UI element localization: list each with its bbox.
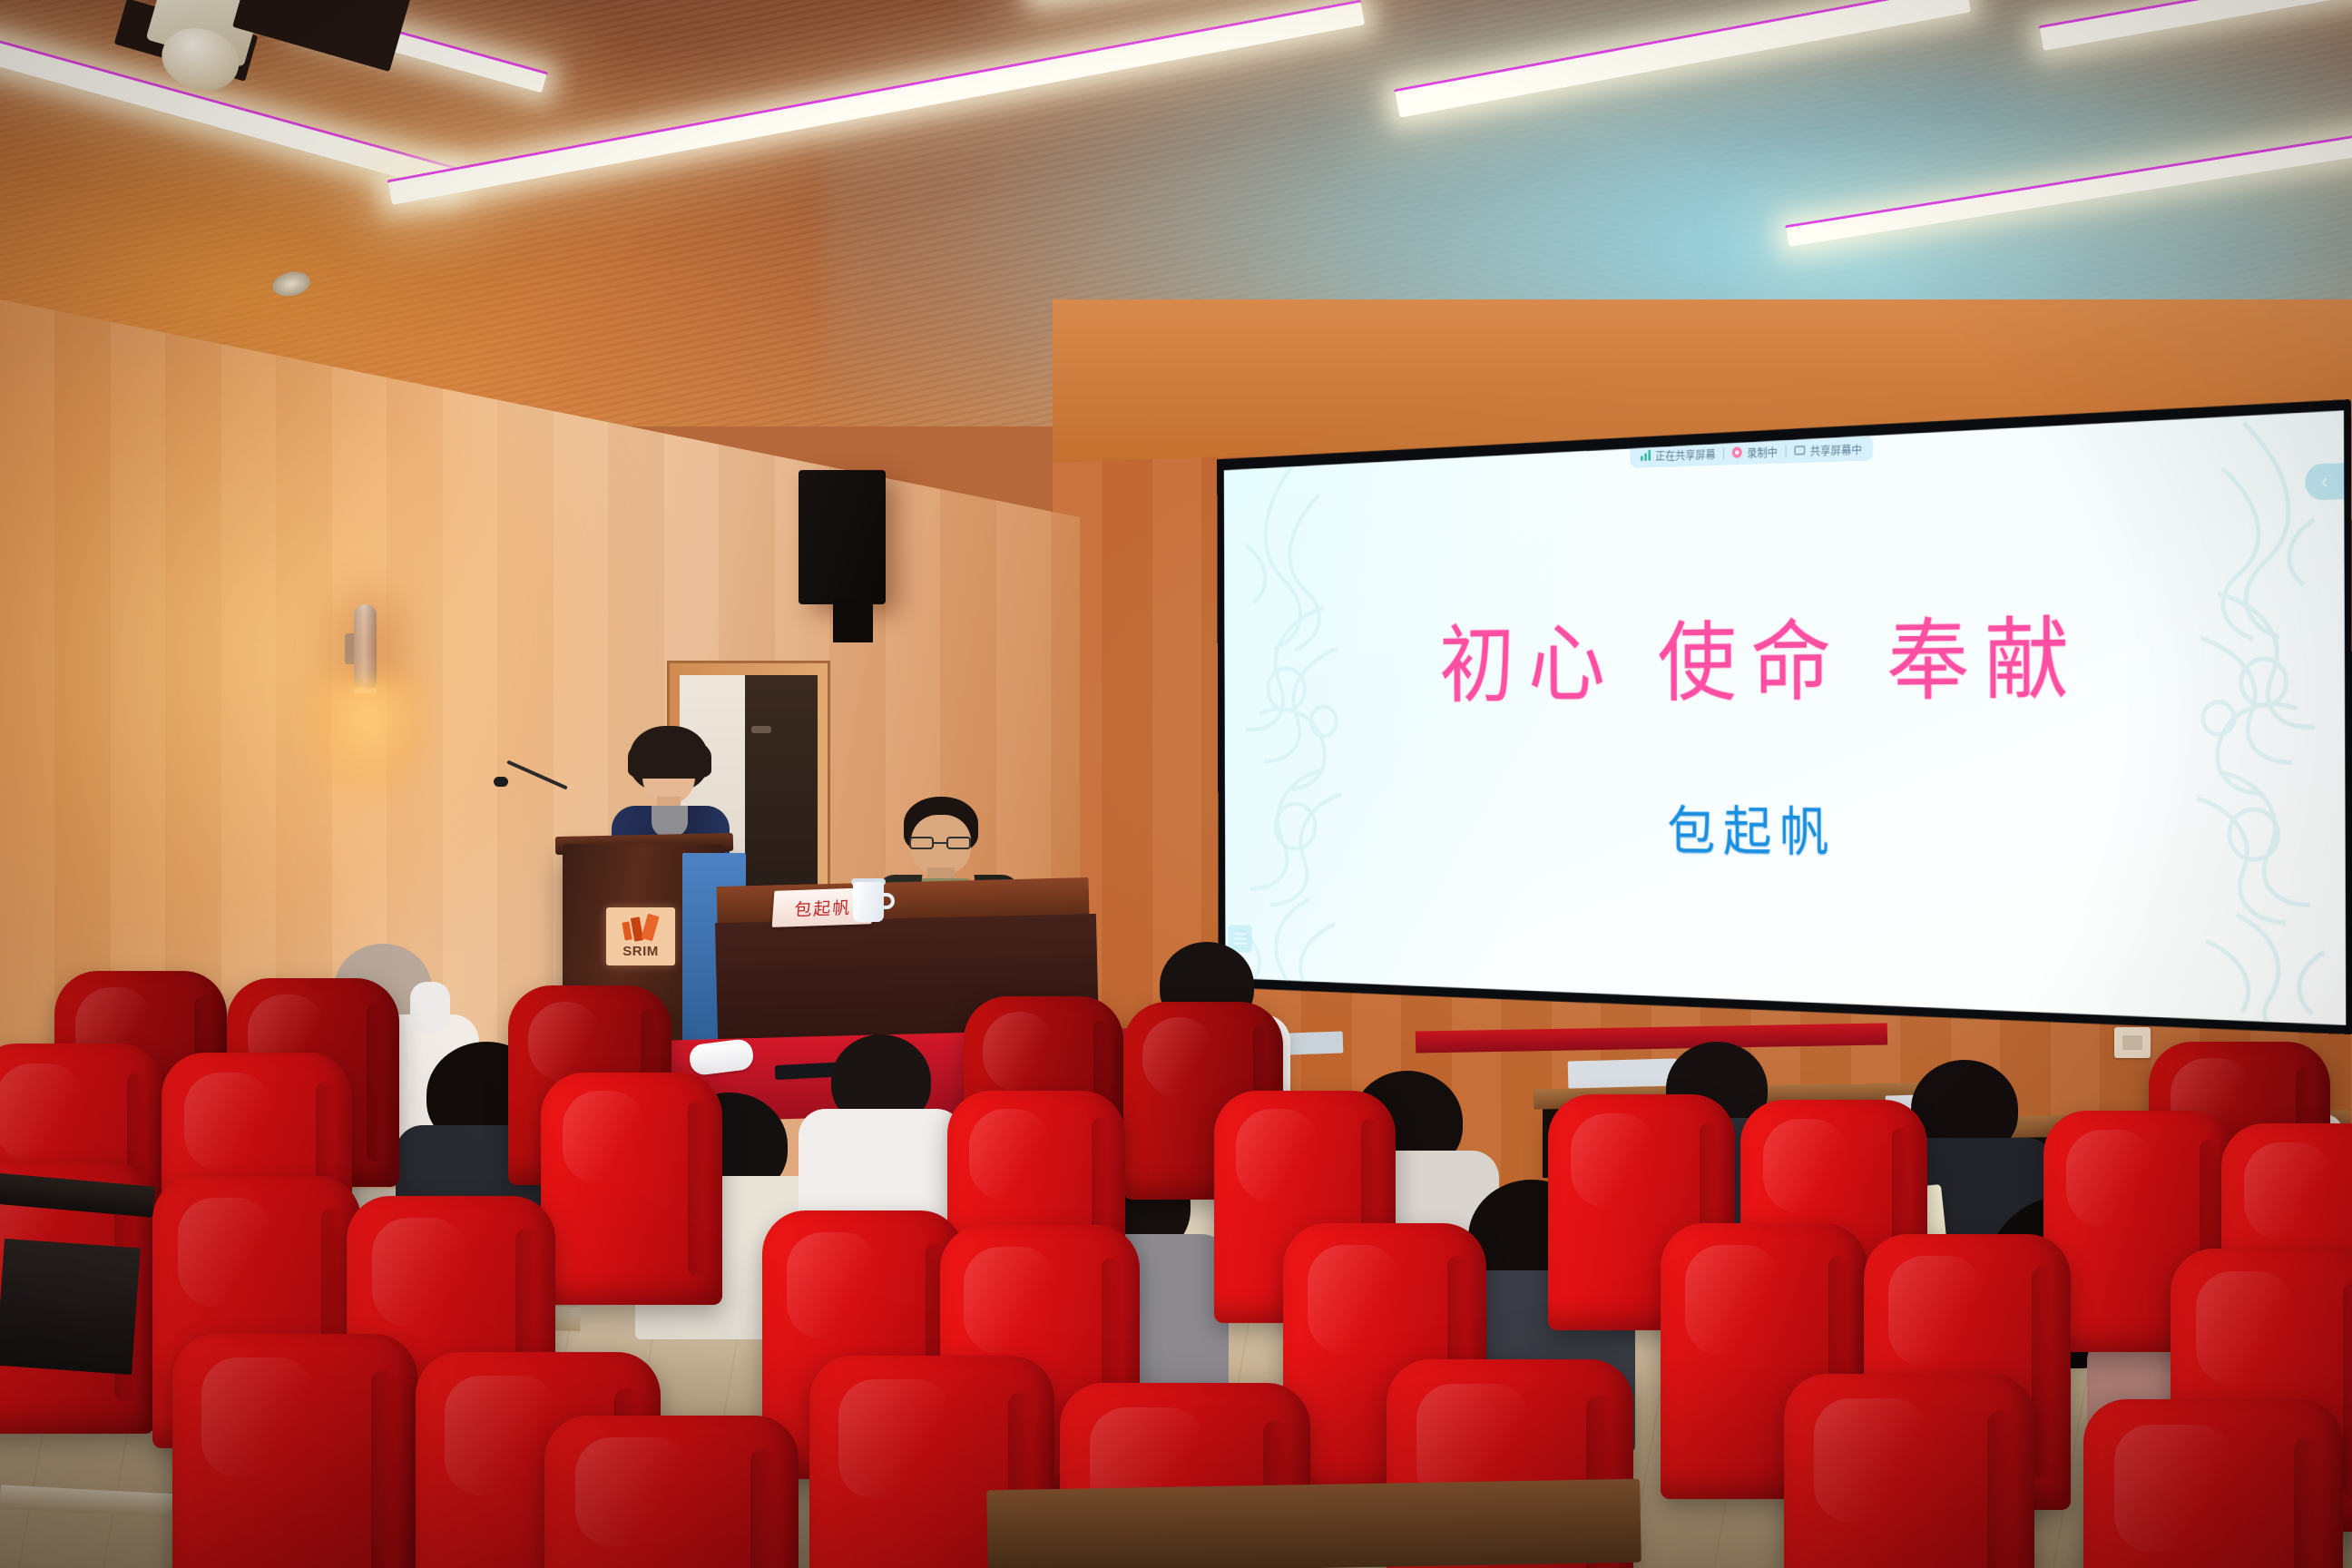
- presenter-collar: [652, 806, 688, 837]
- slide-title: 初心 使命 奉献: [1224, 583, 2345, 720]
- screen-cast-icon: [1794, 446, 1805, 456]
- divider: [1723, 446, 1724, 458]
- cast-segment: 共享屏幕中: [1794, 440, 1862, 458]
- sconce-light-pool: [299, 671, 436, 808]
- speaker-mount: [833, 599, 873, 642]
- foreground-desk: [986, 1479, 1641, 1568]
- cast-status-label: 正在共享屏幕: [1655, 445, 1716, 463]
- signal-bars-icon: [1641, 450, 1651, 461]
- srim-logo-mark: [622, 915, 660, 942]
- audience-seat[interactable]: [544, 1416, 799, 1568]
- recording-label: 录制中: [1747, 443, 1778, 460]
- sconce-uplight: [309, 564, 426, 682]
- microphone-head: [494, 777, 508, 787]
- audience-seat[interactable]: [2083, 1399, 2343, 1568]
- auspicious-cloud-ornament-left: [1224, 444, 1382, 998]
- slide-subtitle: 包起帆: [1225, 787, 2346, 873]
- screen-surface[interactable]: 正在共享屏幕 录制中 共享屏幕中 初心 使命 奉献 包起帆 ‹: [1224, 410, 2347, 1025]
- nameplate-text: 包起帆: [794, 894, 853, 920]
- recording-segment: 录制中: [1732, 443, 1778, 460]
- audience-seat[interactable]: [541, 1073, 722, 1305]
- audience-seat[interactable]: [172, 1334, 417, 1568]
- coffee-mug-icon: [853, 882, 884, 922]
- audience-seat[interactable]: [1784, 1374, 2034, 1568]
- lecture-hall-photo: 正在共享屏幕 录制中 共享屏幕中 初心 使命 奉献 包起帆 ‹: [0, 0, 2352, 1568]
- presenter-hair-top: [628, 735, 711, 779]
- divider: [1786, 445, 1787, 456]
- door-handle: [751, 726, 771, 733]
- wall-speaker-icon: [799, 470, 886, 604]
- srim-logo-icon: SRIM: [606, 907, 675, 965]
- chevron-left-icon[interactable]: ‹: [2305, 463, 2344, 500]
- tablet-arm-support: [0, 1239, 141, 1375]
- power-socket-icon: [2114, 1027, 2151, 1058]
- cast-status-segment: 正在共享屏幕: [1641, 445, 1716, 463]
- projection-screen[interactable]: 正在共享屏幕 录制中 共享屏幕中 初心 使命 奉献 包起帆 ‹: [1217, 399, 2352, 1034]
- auspicious-cloud-ornament-right: [2149, 410, 2346, 1025]
- desk-monitor-icon: [1568, 1058, 1678, 1088]
- record-dot-icon: [1732, 446, 1742, 458]
- face-mask-icon: [410, 982, 450, 1033]
- eyeglasses-icon: [909, 837, 973, 849]
- srim-logo-text: SRIM: [622, 944, 659, 959]
- cast-label: 共享屏幕中: [1810, 440, 1862, 458]
